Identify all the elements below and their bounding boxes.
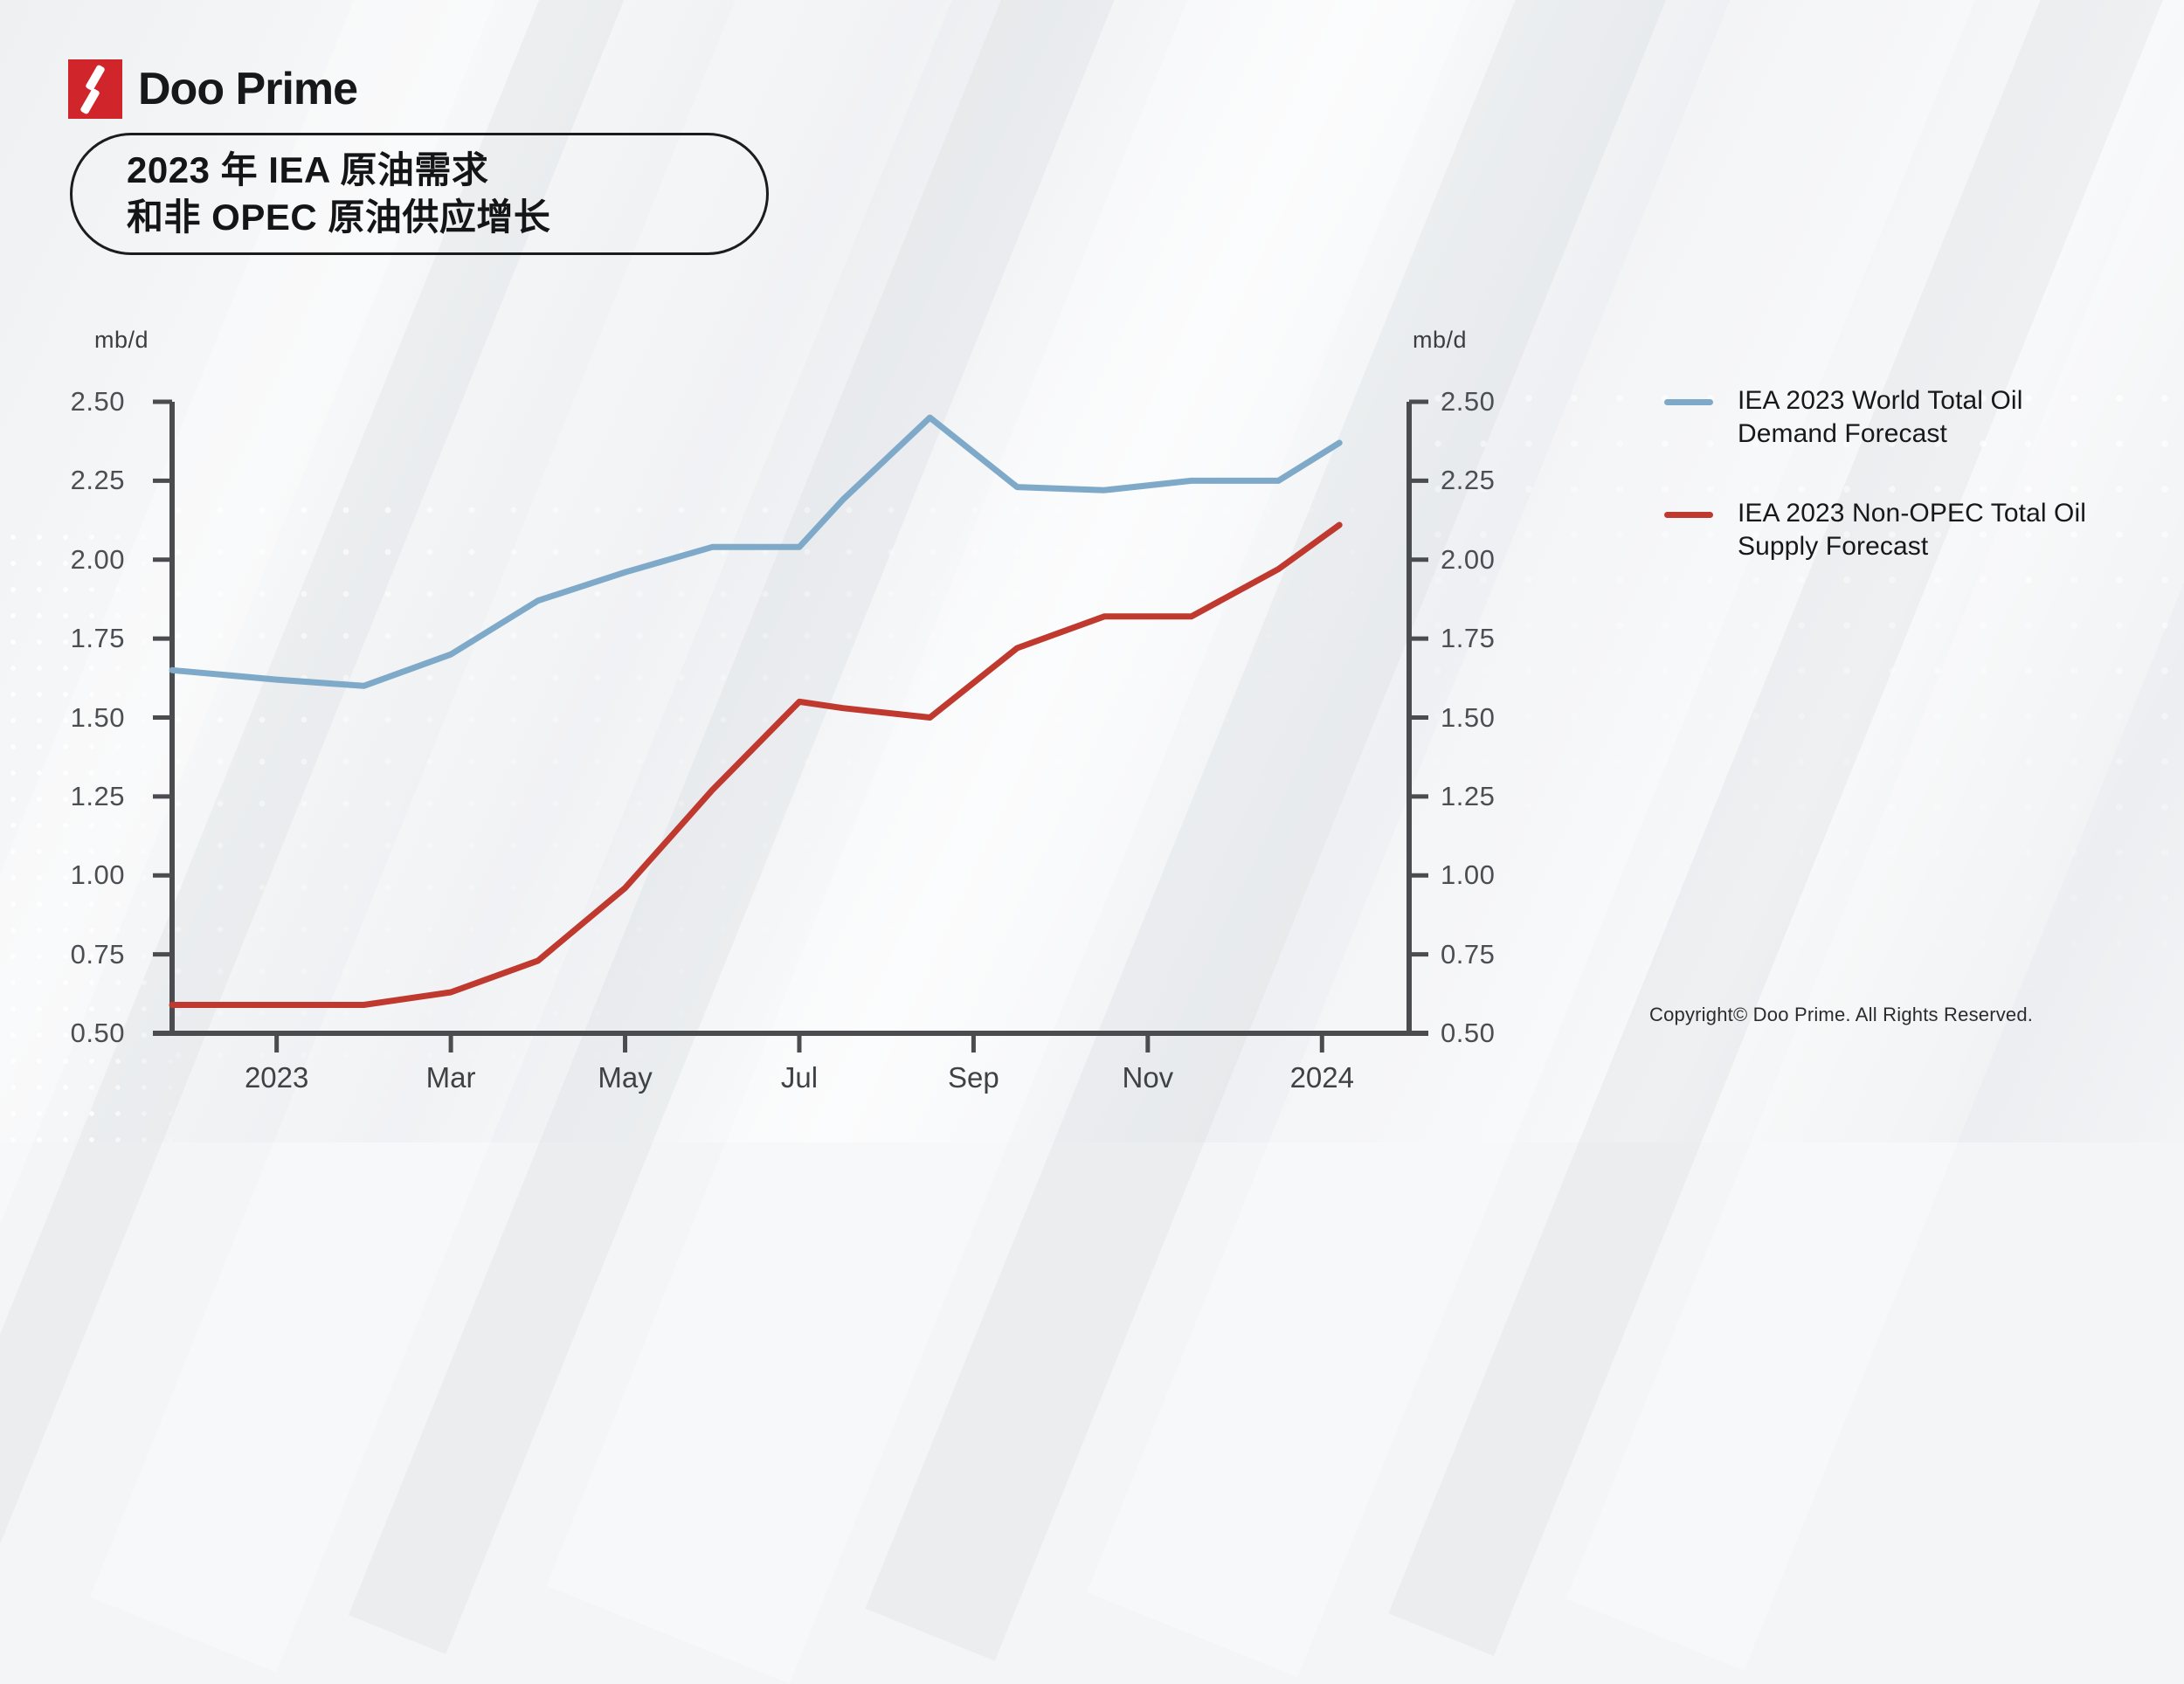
series-line-1 bbox=[172, 418, 1339, 686]
chart-legend: IEA 2023 World Total Oil Demand Forecast… bbox=[1664, 384, 2087, 610]
legend-item-label: IEA 2023 Non-OPEC Total Oil Supply Forec… bbox=[1738, 497, 2087, 564]
y-tick-label-right: 2.50 bbox=[1441, 386, 1495, 418]
x-tick-label: May bbox=[598, 1061, 652, 1094]
x-tick-label: Jul bbox=[781, 1061, 818, 1094]
y-tick-label-left: 0.50 bbox=[0, 1018, 125, 1049]
y-tick-label-left: 1.25 bbox=[0, 781, 125, 812]
y-tick-label-right: 1.25 bbox=[1441, 781, 1495, 812]
legend-color-swatch bbox=[1664, 512, 1713, 518]
chart-plot-area bbox=[0, 0, 1503, 1142]
y-tick-label-right: 2.25 bbox=[1441, 465, 1495, 496]
x-tick-label: Sep bbox=[948, 1061, 999, 1094]
y-tick-label-left: 1.50 bbox=[0, 702, 125, 734]
y-tick-label-right: 1.00 bbox=[1441, 859, 1495, 891]
y-tick-label-left: 1.75 bbox=[0, 623, 125, 654]
y-tick-label-right: 2.00 bbox=[1441, 544, 1495, 576]
y-tick-label-left: 1.00 bbox=[0, 859, 125, 891]
series-line-2 bbox=[172, 525, 1339, 1005]
y-tick-label-right: 1.75 bbox=[1441, 623, 1495, 654]
line-chart: mb/d mb/d 2.502.502.252.252.002.001.751.… bbox=[0, 0, 1503, 1142]
legend-item-label: IEA 2023 World Total Oil Demand Forecast bbox=[1738, 384, 2087, 452]
y-tick-label-left: 2.00 bbox=[0, 544, 125, 576]
y-tick-label-left: 2.50 bbox=[0, 386, 125, 418]
x-tick-label: 2023 bbox=[245, 1061, 308, 1094]
y-tick-label-right: 1.50 bbox=[1441, 702, 1495, 734]
legend-item-1[interactable]: IEA 2023 World Total Oil Demand Forecast bbox=[1664, 384, 2087, 452]
x-tick-label: Mar bbox=[426, 1061, 476, 1094]
x-tick-label: 2024 bbox=[1290, 1061, 1354, 1094]
x-tick-label: Nov bbox=[1123, 1061, 1174, 1094]
legend-item-2[interactable]: IEA 2023 Non-OPEC Total Oil Supply Forec… bbox=[1664, 497, 2087, 564]
legend-color-swatch bbox=[1664, 399, 1713, 405]
y-tick-label-right: 0.50 bbox=[1441, 1018, 1495, 1049]
y-tick-label-left: 2.25 bbox=[0, 465, 125, 496]
copyright-notice: Copyright© Doo Prime. All Rights Reserve… bbox=[1649, 1004, 2033, 1026]
y-tick-label-left: 0.75 bbox=[0, 939, 125, 970]
y-tick-label-right: 0.75 bbox=[1441, 939, 1495, 970]
